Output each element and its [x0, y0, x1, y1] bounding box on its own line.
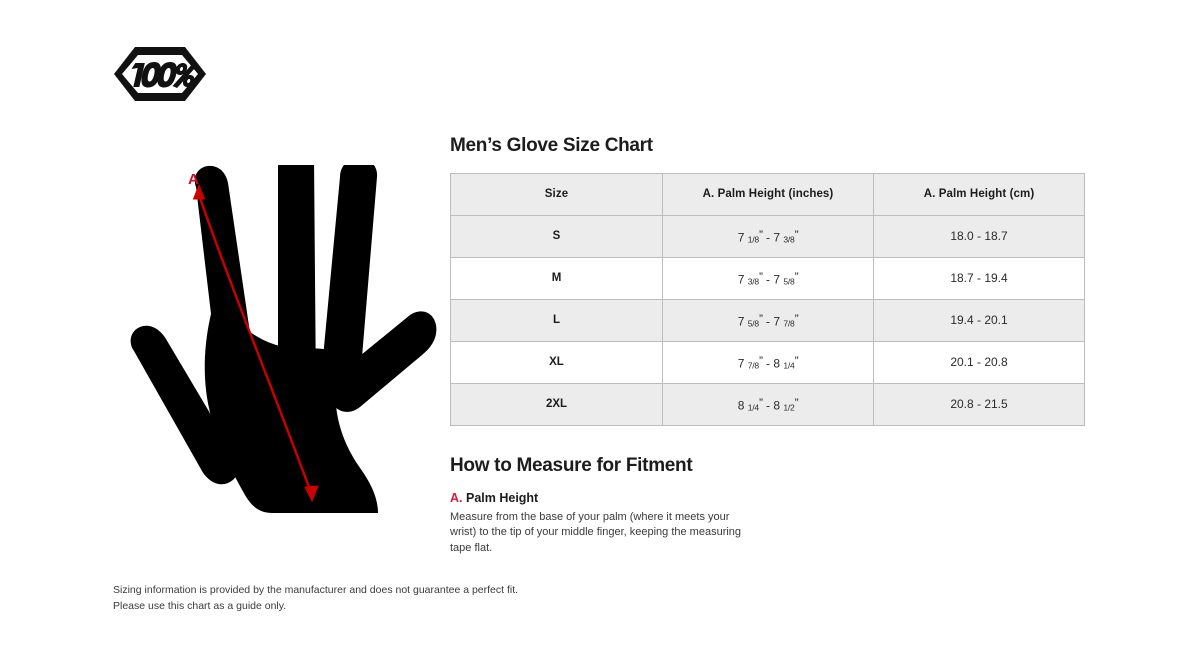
- cell-size: XL: [451, 341, 663, 383]
- 100-percent-logo: [112, 45, 208, 103]
- cell-palm-inches: 8 1/4” - 8 1/2”: [663, 383, 874, 425]
- cell-palm-cm: 18.7 - 19.4: [874, 257, 1085, 299]
- cell-palm-inches: 7 3/8” - 7 5/8”: [663, 257, 874, 299]
- disclaimer-line-1: Sizing information is provided by the ma…: [113, 583, 633, 599]
- how-to-measure-title: How to Measure for Fitment: [450, 456, 1084, 477]
- cell-palm-cm: 20.8 - 21.5: [874, 383, 1085, 425]
- table-row: L 7 5/8” - 7 7/8” 19.4 - 20.1: [451, 299, 1085, 341]
- size-chart-table: Size A. Palm Height (inches) A. Palm Hei…: [450, 173, 1085, 426]
- table-row: 2XL 8 1/4” - 8 1/2” 20.8 - 21.5: [451, 383, 1085, 425]
- column-header-palm-cm: A. Palm Height (cm): [874, 173, 1085, 215]
- cell-palm-inches: 7 7/8” - 8 1/4”: [663, 341, 874, 383]
- table-row: XL 7 7/8” - 8 1/4” 20.1 - 20.8: [451, 341, 1085, 383]
- measure-item-text: Measure from the base of your palm (wher…: [450, 510, 750, 557]
- cell-size: S: [451, 215, 663, 257]
- cell-palm-cm: 20.1 - 20.8: [874, 341, 1085, 383]
- how-to-measure-section: How to Measure for Fitment A. Palm Heigh…: [450, 456, 1084, 557]
- size-chart-panel: Men’s Glove Size Chart Size A. Palm Heig…: [450, 136, 1084, 557]
- table-header-row: Size A. Palm Height (inches) A. Palm Hei…: [451, 173, 1085, 215]
- table-row: S 7 1/8” - 7 3/8” 18.0 - 18.7: [451, 215, 1085, 257]
- measurement-label-a: A: [188, 171, 199, 188]
- page-title: Men’s Glove Size Chart: [450, 136, 1084, 157]
- disclaimer: Sizing information is provided by the ma…: [113, 583, 633, 615]
- table-row: M 7 3/8” - 7 5/8” 18.7 - 19.4: [451, 257, 1085, 299]
- column-header-palm-inches: A. Palm Height (inches): [663, 173, 874, 215]
- cell-palm-cm: 19.4 - 20.1: [874, 299, 1085, 341]
- disclaimer-line-2: Please use this chart as a guide only.: [113, 599, 633, 615]
- cell-palm-inches: 7 5/8” - 7 7/8”: [663, 299, 874, 341]
- column-header-size: Size: [451, 173, 663, 215]
- hand-silhouette: [131, 165, 437, 513]
- hand-measurement-diagram: [110, 165, 440, 520]
- measure-item-name: Palm Height: [466, 491, 538, 505]
- measure-item-heading: A. Palm Height: [450, 491, 1084, 506]
- cell-palm-cm: 18.0 - 18.7: [874, 215, 1085, 257]
- cell-size: L: [451, 299, 663, 341]
- cell-size: 2XL: [451, 383, 663, 425]
- cell-palm-inches: 7 1/8” - 7 3/8”: [663, 215, 874, 257]
- measure-item-mark: A.: [450, 491, 463, 505]
- cell-size: M: [451, 257, 663, 299]
